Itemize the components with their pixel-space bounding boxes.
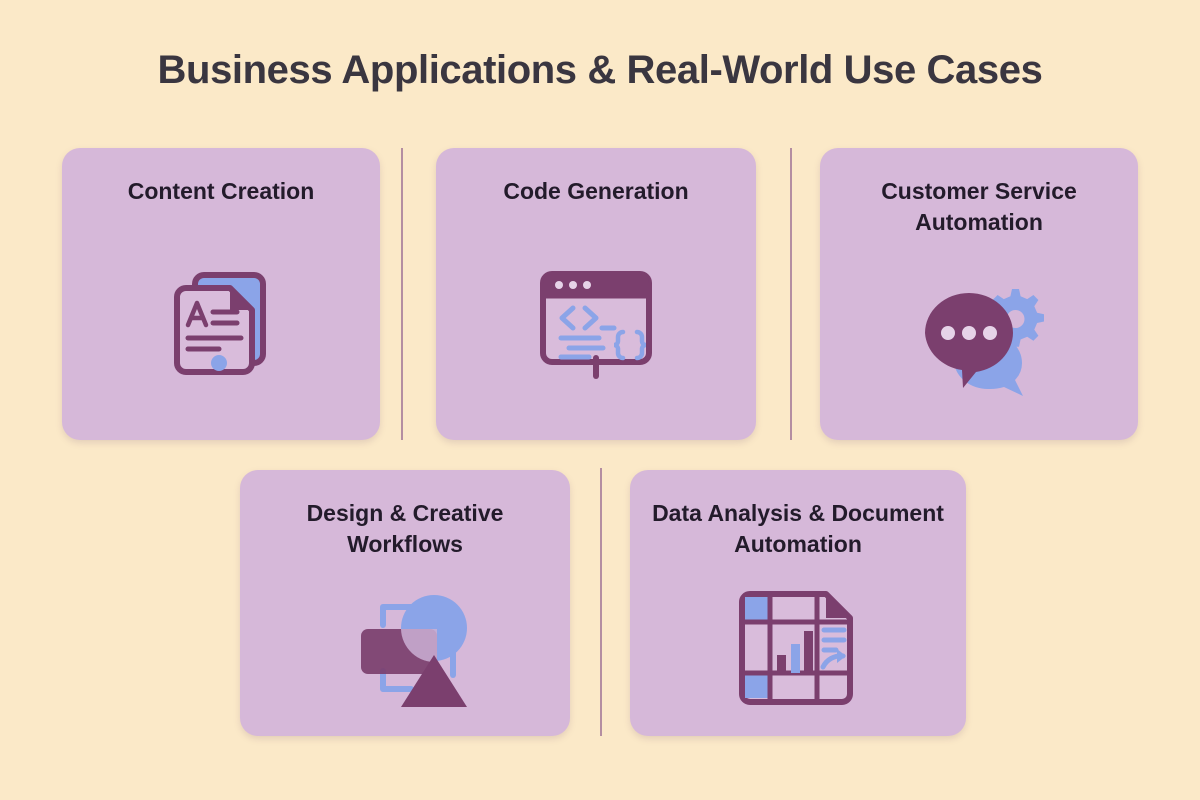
card-icon-design-creative: [240, 559, 570, 736]
code-window-icon: [531, 258, 661, 388]
divider-3: [600, 468, 602, 736]
card-icon-code-generation: [436, 207, 756, 440]
spreadsheet-chart-icon: [732, 585, 864, 711]
card-code-generation[interactable]: Code Generation: [436, 148, 756, 440]
divider-1: [401, 148, 403, 440]
card-title: Customer Service Automation: [833, 176, 1126, 237]
bar-3: [804, 631, 813, 673]
bar-2: [791, 644, 800, 673]
document-text-icon: [157, 259, 285, 387]
card-customer-service-automation[interactable]: Customer Service Automation: [820, 148, 1138, 440]
card-title: Design & Creative Workflows: [253, 498, 557, 559]
bar-1: [777, 655, 786, 673]
card-icon-data-analysis: [630, 559, 966, 736]
card-design-creative-workflows[interactable]: Design & Creative Workflows: [240, 470, 570, 736]
infographic-canvas: Business Applications & Real-World Use C…: [0, 0, 1200, 800]
card-title: Content Creation: [75, 176, 368, 207]
shapes-crop-icon: [335, 585, 475, 711]
divider-2: [790, 148, 792, 440]
page-title: Business Applications & Real-World Use C…: [0, 48, 1200, 93]
card-title: Data Analysis & Document Automation: [643, 498, 952, 559]
card-data-analysis-automation[interactable]: Data Analysis & Document Automation: [630, 470, 966, 736]
card-icon-customer-service: [820, 237, 1138, 440]
card-icon-content-creation: [62, 207, 380, 440]
card-content-creation[interactable]: Content Creation: [62, 148, 380, 440]
chat-bubbles-gear-icon: [914, 275, 1044, 403]
card-title: Code Generation: [449, 176, 743, 207]
